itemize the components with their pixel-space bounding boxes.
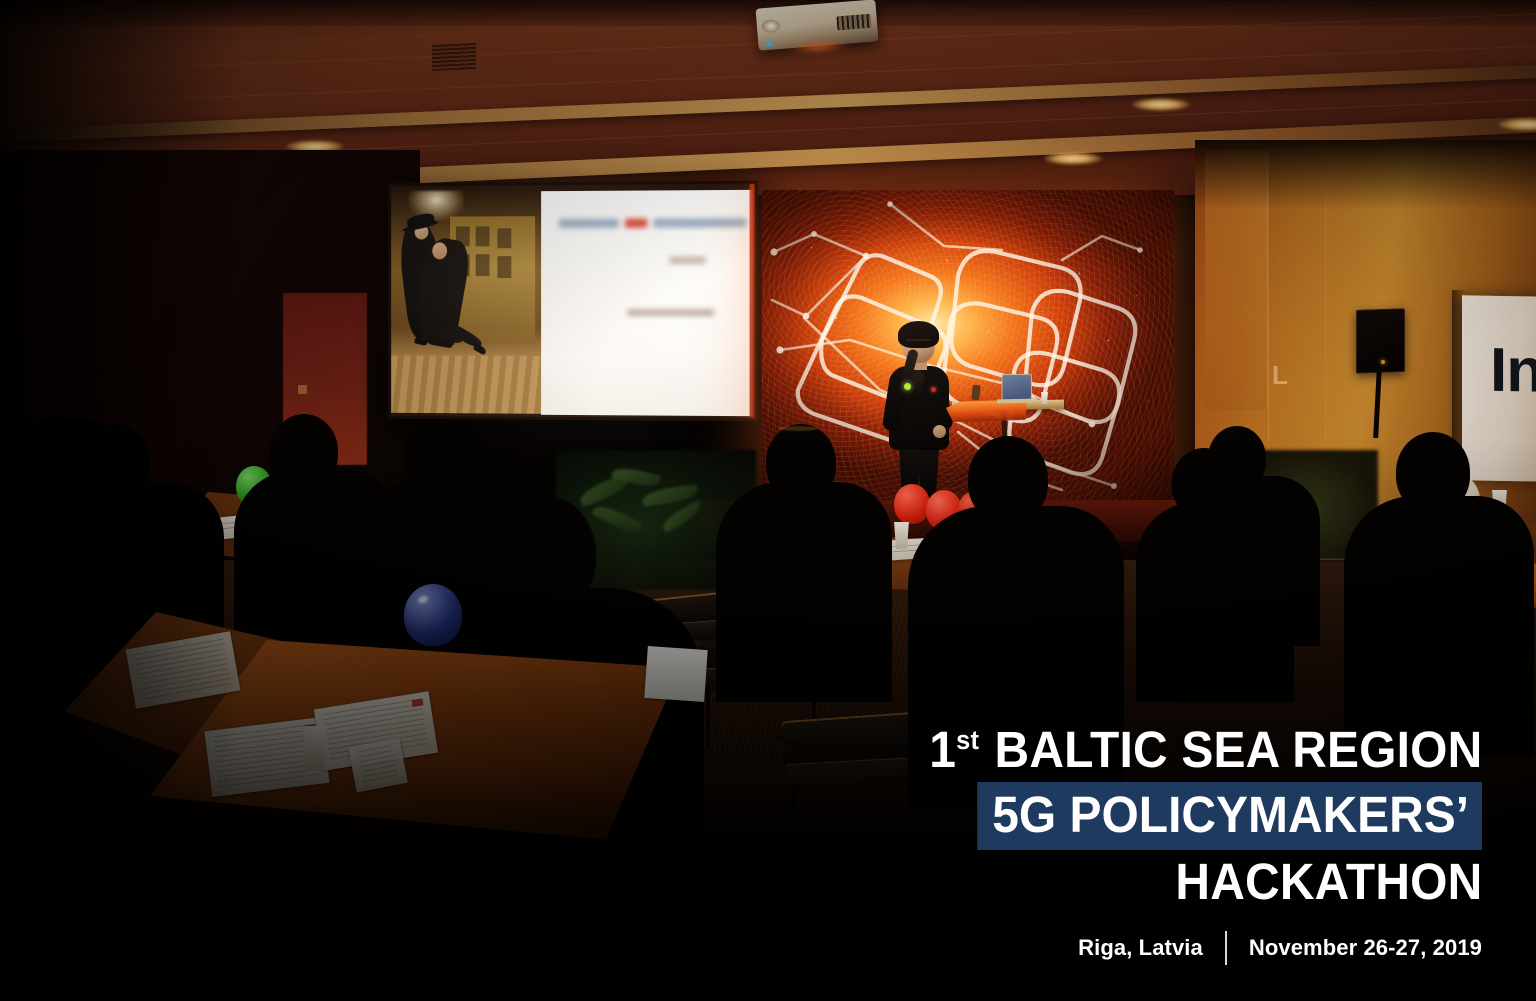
presenter — [884, 325, 954, 500]
handout-paper — [348, 737, 408, 792]
meta-divider — [1225, 931, 1227, 965]
handout-paper — [644, 646, 707, 702]
title-ordinal-number: 1 — [929, 721, 956, 778]
door-knob-icon — [298, 385, 307, 394]
venue-sign: In — [1462, 295, 1536, 482]
projector-lens-icon — [761, 19, 780, 33]
glasses-icon — [906, 339, 931, 347]
venue-sign-text: In — [1490, 340, 1536, 403]
balloon-red — [894, 484, 930, 524]
title-overlay: 1st BALTIC SEA REGION 5G POLICYMAKERS’ H… — [894, 722, 1482, 965]
projection-screen — [388, 181, 758, 422]
event-meta: Riga, Latvia November 26-27, 2019 — [894, 931, 1482, 965]
pa-speaker — [1356, 308, 1405, 374]
title-ordinal-suffix: st — [956, 725, 979, 755]
title-line-1: 1st BALTIC SEA REGION — [929, 722, 1482, 777]
projector — [756, 0, 879, 51]
title-line-3: HACKATHON — [929, 854, 1482, 909]
slide-text-panel — [541, 190, 753, 416]
event-photo: L In — [0, 0, 1536, 1001]
title-line-1-text: BALTIC SEA REGION — [994, 721, 1482, 778]
slide-tango-photo — [391, 188, 541, 414]
stage-letter: L — [1272, 360, 1288, 391]
event-dates: November 26-27, 2019 — [1249, 935, 1482, 961]
balloon-blue — [404, 584, 462, 646]
title-line-2-banded: 5G POLICYMAKERS’ — [977, 782, 1482, 850]
ceiling-vent-icon — [432, 43, 476, 71]
event-location: Riga, Latvia — [1078, 935, 1203, 961]
